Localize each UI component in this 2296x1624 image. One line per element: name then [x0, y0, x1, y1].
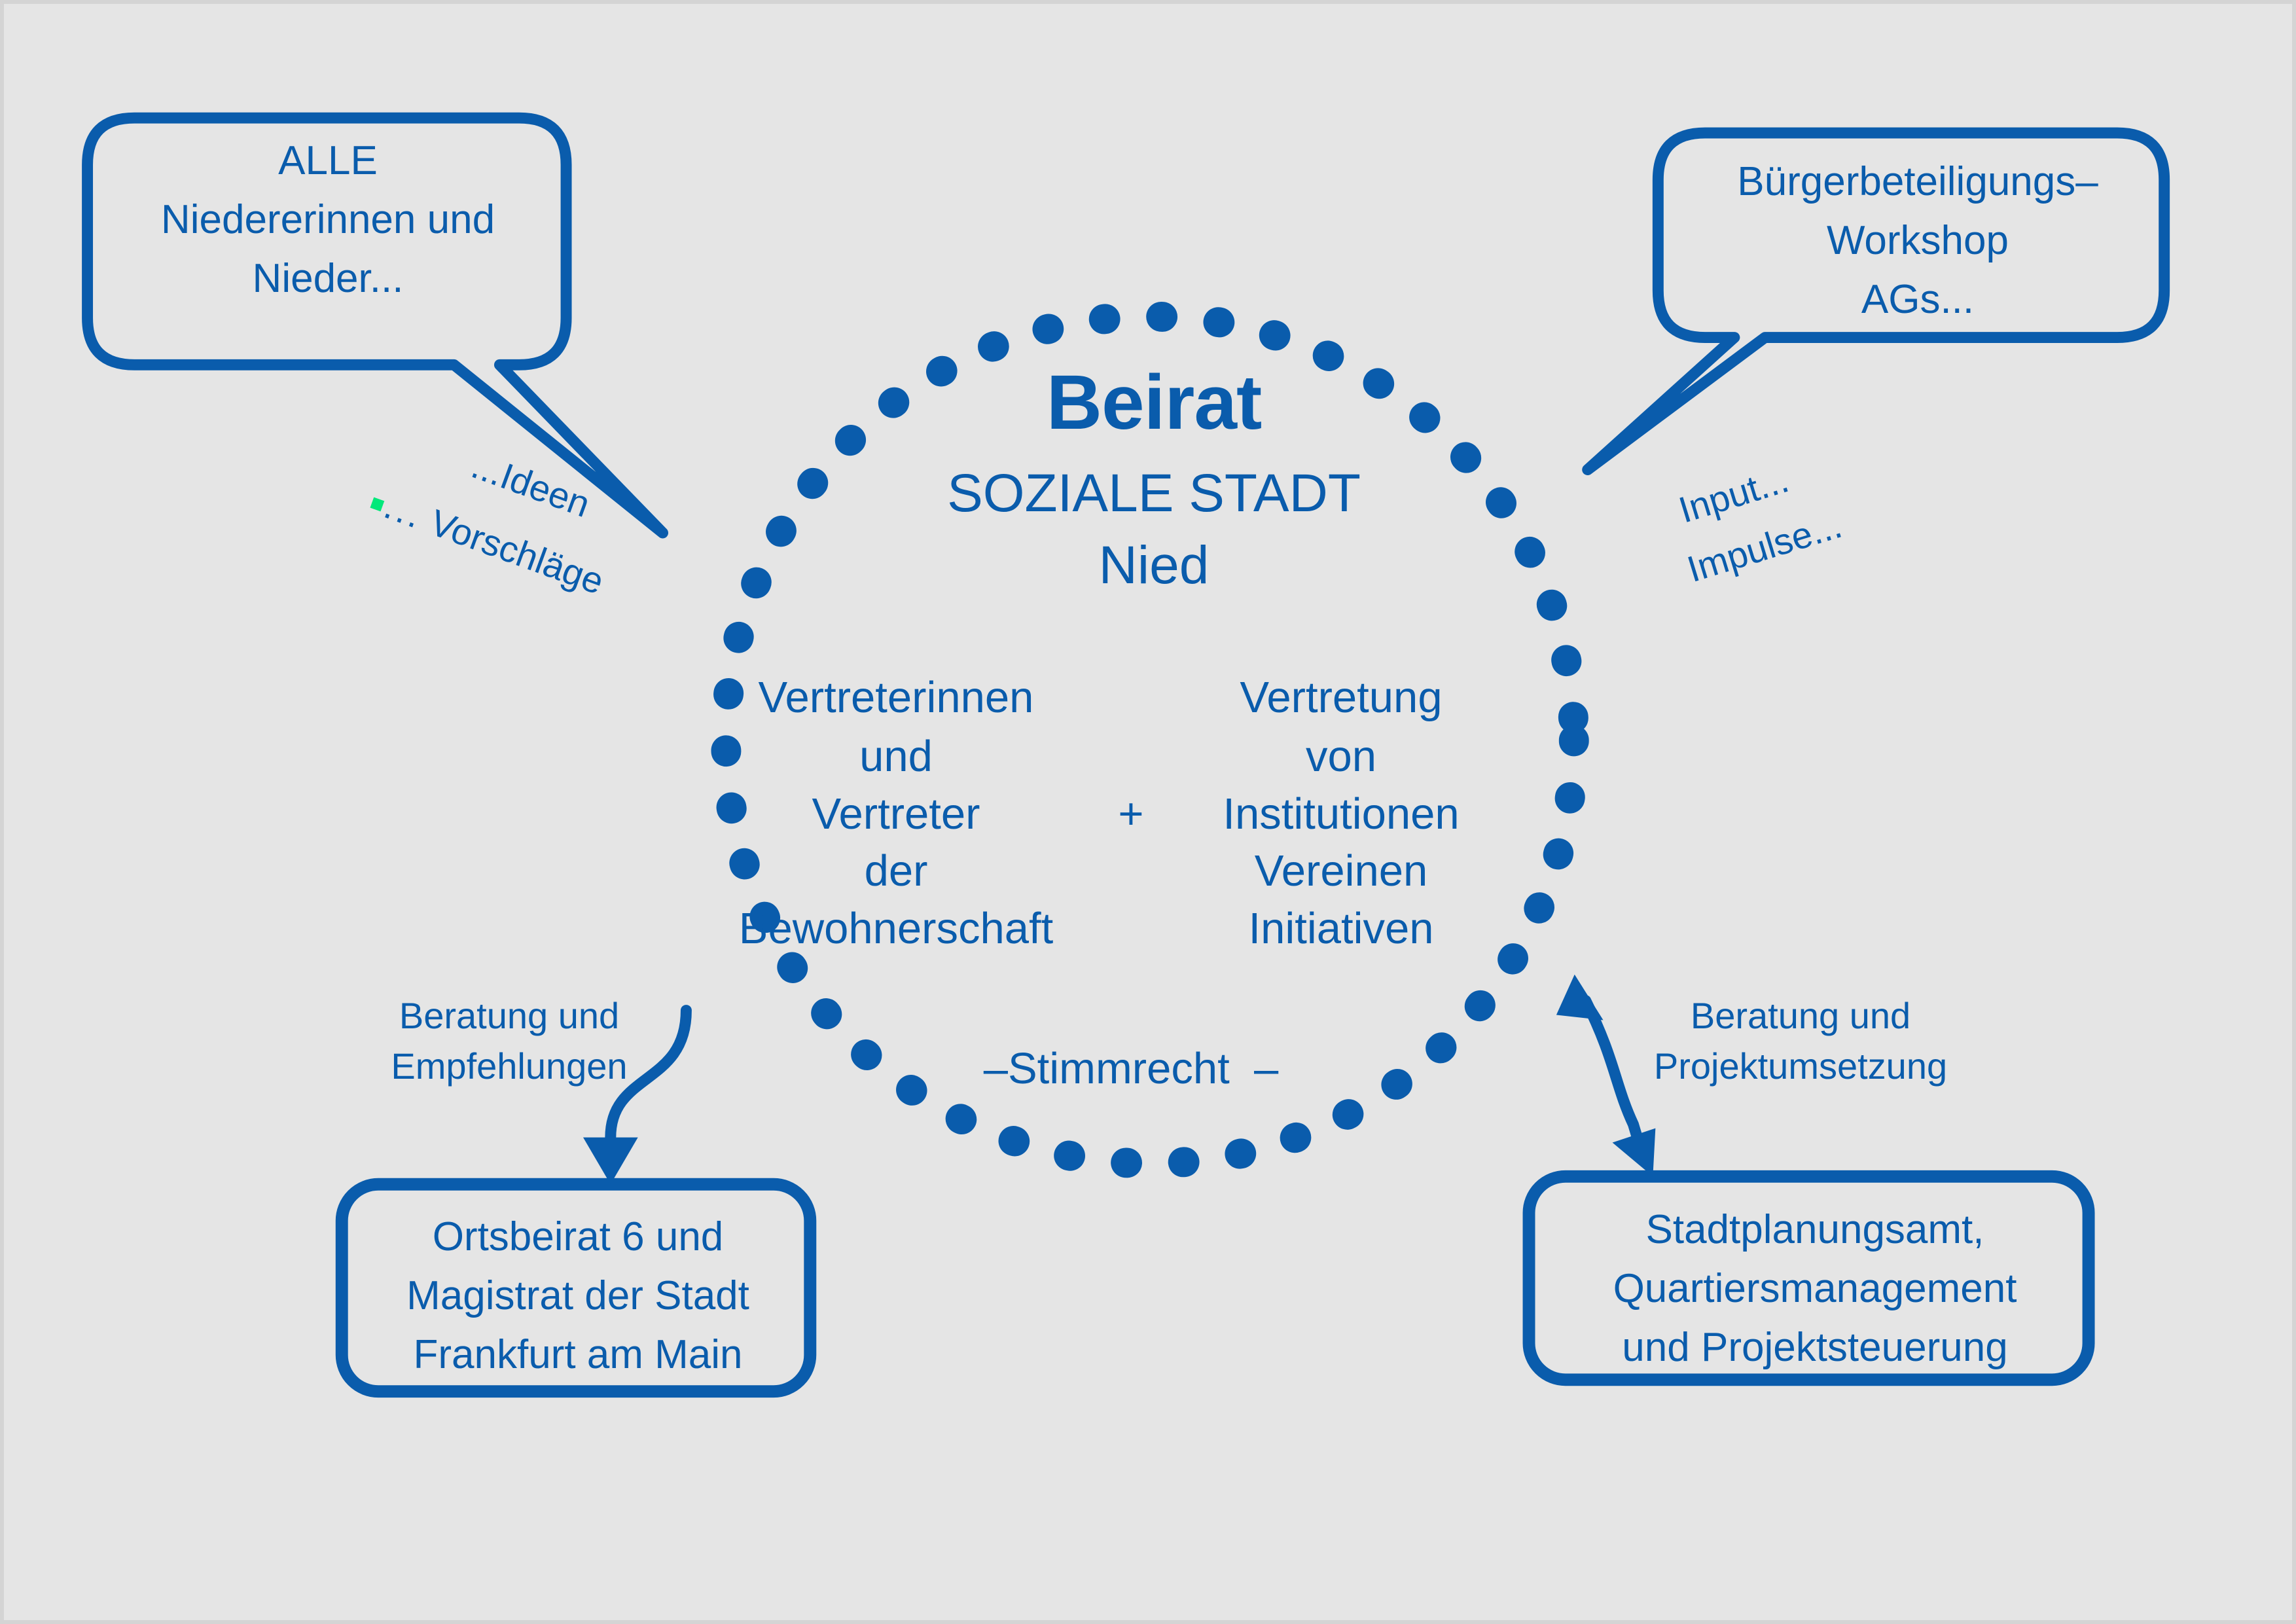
center-subtitle-line2: Nied [1099, 534, 1210, 598]
center-right-column-line-4: Vereinen [1255, 845, 1428, 897]
box-bottom-left-line-2: Magistrat der Stadt [406, 1272, 749, 1320]
bubble-top-left-line-2: Niedererinnen und [161, 196, 495, 244]
center-right-column-line-1: Vertretung [1240, 672, 1442, 723]
plus-sign: + [1118, 788, 1143, 840]
box-bottom-left-line-1: Ortsbeirat 6 und [433, 1213, 724, 1261]
annotation-beratung-empfehlungen-line2: Empfehlungen [391, 1045, 627, 1088]
center-title: Beirat [1047, 357, 1261, 448]
box-bottom-right-line-1: Stadtplanungsamt, [1645, 1206, 1984, 1254]
bubble-top-right-line-1: Bürgerbeteiligungs– [1737, 158, 2098, 206]
bubble-top-left-line-3: Nieder... [253, 255, 404, 302]
center-right-column-line-3: Institutionen [1223, 788, 1459, 840]
center-left-column-line-5: Bewohnerschaft [739, 903, 1053, 954]
bubble-top-left-line-1: ALLE [278, 137, 378, 185]
center-left-column-line-3: Vertreter [812, 788, 980, 840]
green-dot-marker [370, 497, 385, 511]
center-left-column-line-4: der [865, 845, 928, 897]
annotation-beratung-projekt-line1: Beratung und [1691, 994, 1910, 1038]
center-right-column-line-5: Initiativen [1248, 903, 1433, 954]
bubble-top-right-line-2: Workshop [1827, 217, 2009, 264]
box-bottom-left-line-3: Frankfurt am Main [413, 1331, 742, 1379]
center-left-column-line-1: Vertreterinnen [759, 672, 1034, 723]
center-footer-stimmrecht: –Stimmrecht – [984, 1043, 1279, 1094]
box-bottom-right-line-3: und Projektsteuerung [1622, 1324, 2007, 1371]
annotation-beratung-empfehlungen-line1: Beratung und [399, 994, 619, 1038]
arrow-beratung-projektumsetzung [1556, 975, 1655, 1177]
center-right-column-line-2: von [1306, 731, 1376, 782]
bubble-top-right-line-3: AGs... [1861, 276, 1974, 323]
center-subtitle-line1: SOZIALE STADT [947, 462, 1361, 526]
box-bottom-right-line-2: Quartiersmanagement [1613, 1265, 2017, 1312]
annotation-beratung-projekt-line2: Projektumsetzung [1654, 1045, 1947, 1088]
diagram-canvas: Beirat SOZIALE STADT Nied Vertreterinnen… [0, 0, 2296, 1624]
annotation-vorschlaege-label: Vorschläge [415, 498, 609, 602]
center-left-column-line-2: und [859, 731, 933, 782]
